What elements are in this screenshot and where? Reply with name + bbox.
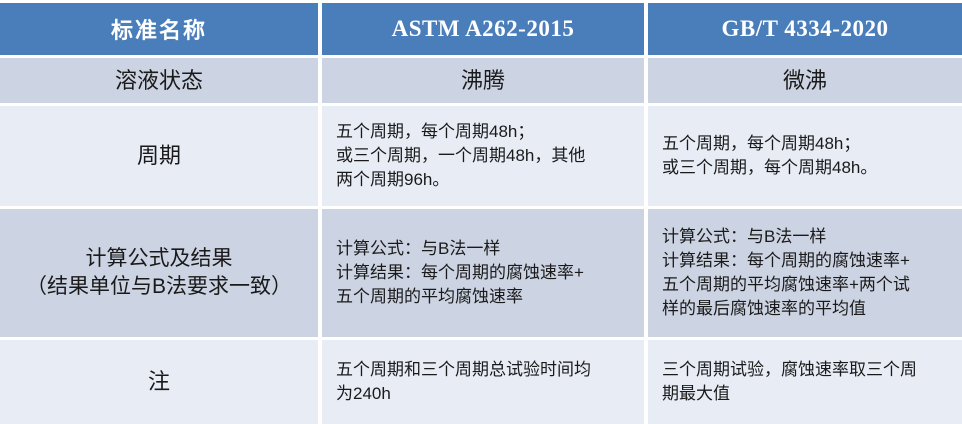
row-label-cycle: 周期	[0, 106, 318, 206]
row-label-subnote: （结果单位与B法要求一致）	[26, 273, 292, 301]
cell-line: 两个周期96h。	[336, 168, 636, 192]
cell-gbt-solution-state: 微沸	[648, 58, 962, 103]
cell-line: 或三个周期，一个周期48h，其他	[336, 144, 636, 168]
cell-line: 计算结果：每个周期的腐蚀速率+	[662, 249, 954, 273]
cell-line: 计算公式：与B法一样	[336, 237, 636, 261]
cell-gbt-note: 三个周期试验，腐蚀速率取三个周 期最大值	[648, 340, 962, 424]
cell-line: 五个周期的平均腐蚀速率+两个试	[662, 273, 954, 297]
cell-astm-cycle: 五个周期，每个周期48h； 或三个周期，一个周期48h，其他 两个周期96h。	[322, 106, 644, 206]
row-label-note: 注	[0, 340, 318, 424]
cell-astm-note: 五个周期和三个周期总试验时间均 为240h	[322, 340, 644, 424]
cell-line: 期最大值	[662, 382, 954, 406]
table-header-row: 标准名称 ASTM A262-2015 GB/T 4334-2020	[0, 3, 962, 55]
cell-line: 五个周期，每个周期48h；	[336, 120, 636, 144]
table-row: 注 五个周期和三个周期总试验时间均 为240h 三个周期试验，腐蚀速率取三个周 …	[0, 340, 962, 424]
cell-line: 三个周期试验，腐蚀速率取三个周	[662, 358, 954, 382]
row-label-formula-and-result: 计算公式及结果 （结果单位与B法要求一致）	[0, 209, 318, 337]
cell-line: 计算公式：与B法一样	[662, 225, 954, 249]
cell-line: 样的最后腐蚀速率的平均值	[662, 297, 954, 321]
cell-line: 计算结果：每个周期的腐蚀速率+	[336, 261, 636, 285]
cell-astm-formula: 计算公式：与B法一样 计算结果：每个周期的腐蚀速率+ 五个周期的平均腐蚀速率	[322, 209, 644, 337]
cell-gbt-formula: 计算公式：与B法一样 计算结果：每个周期的腐蚀速率+ 五个周期的平均腐蚀速率+两…	[648, 209, 962, 337]
row-label-solution-state: 溶液状态	[0, 58, 318, 103]
cell-line: 或三个周期，每个周期48h。	[662, 156, 954, 180]
header-cell-astm: ASTM A262-2015	[322, 3, 644, 55]
cell-line: 五个周期，每个周期48h；	[662, 132, 954, 156]
table-row: 溶液状态 沸腾 微沸	[0, 58, 962, 103]
cell-line: 五个周期的平均腐蚀速率	[336, 285, 636, 309]
cell-gbt-cycle: 五个周期，每个周期48h； 或三个周期，每个周期48h。	[648, 106, 962, 206]
header-cell-gbt: GB/T 4334-2020	[648, 3, 962, 55]
table-row: 周期 五个周期，每个周期48h； 或三个周期，一个周期48h，其他 两个周期96…	[0, 106, 962, 206]
cell-line: 为240h	[336, 382, 636, 406]
standard-comparison-table: 标准名称 ASTM A262-2015 GB/T 4334-2020 溶液状态 …	[0, 0, 962, 421]
row-label-line: 计算公式及结果	[26, 245, 292, 273]
table-row: 计算公式及结果 （结果单位与B法要求一致） 计算公式：与B法一样 计算结果：每个…	[0, 209, 962, 337]
header-cell-standard-name: 标准名称	[0, 3, 318, 55]
cell-astm-solution-state: 沸腾	[322, 58, 644, 103]
cell-line: 五个周期和三个周期总试验时间均	[336, 358, 636, 382]
